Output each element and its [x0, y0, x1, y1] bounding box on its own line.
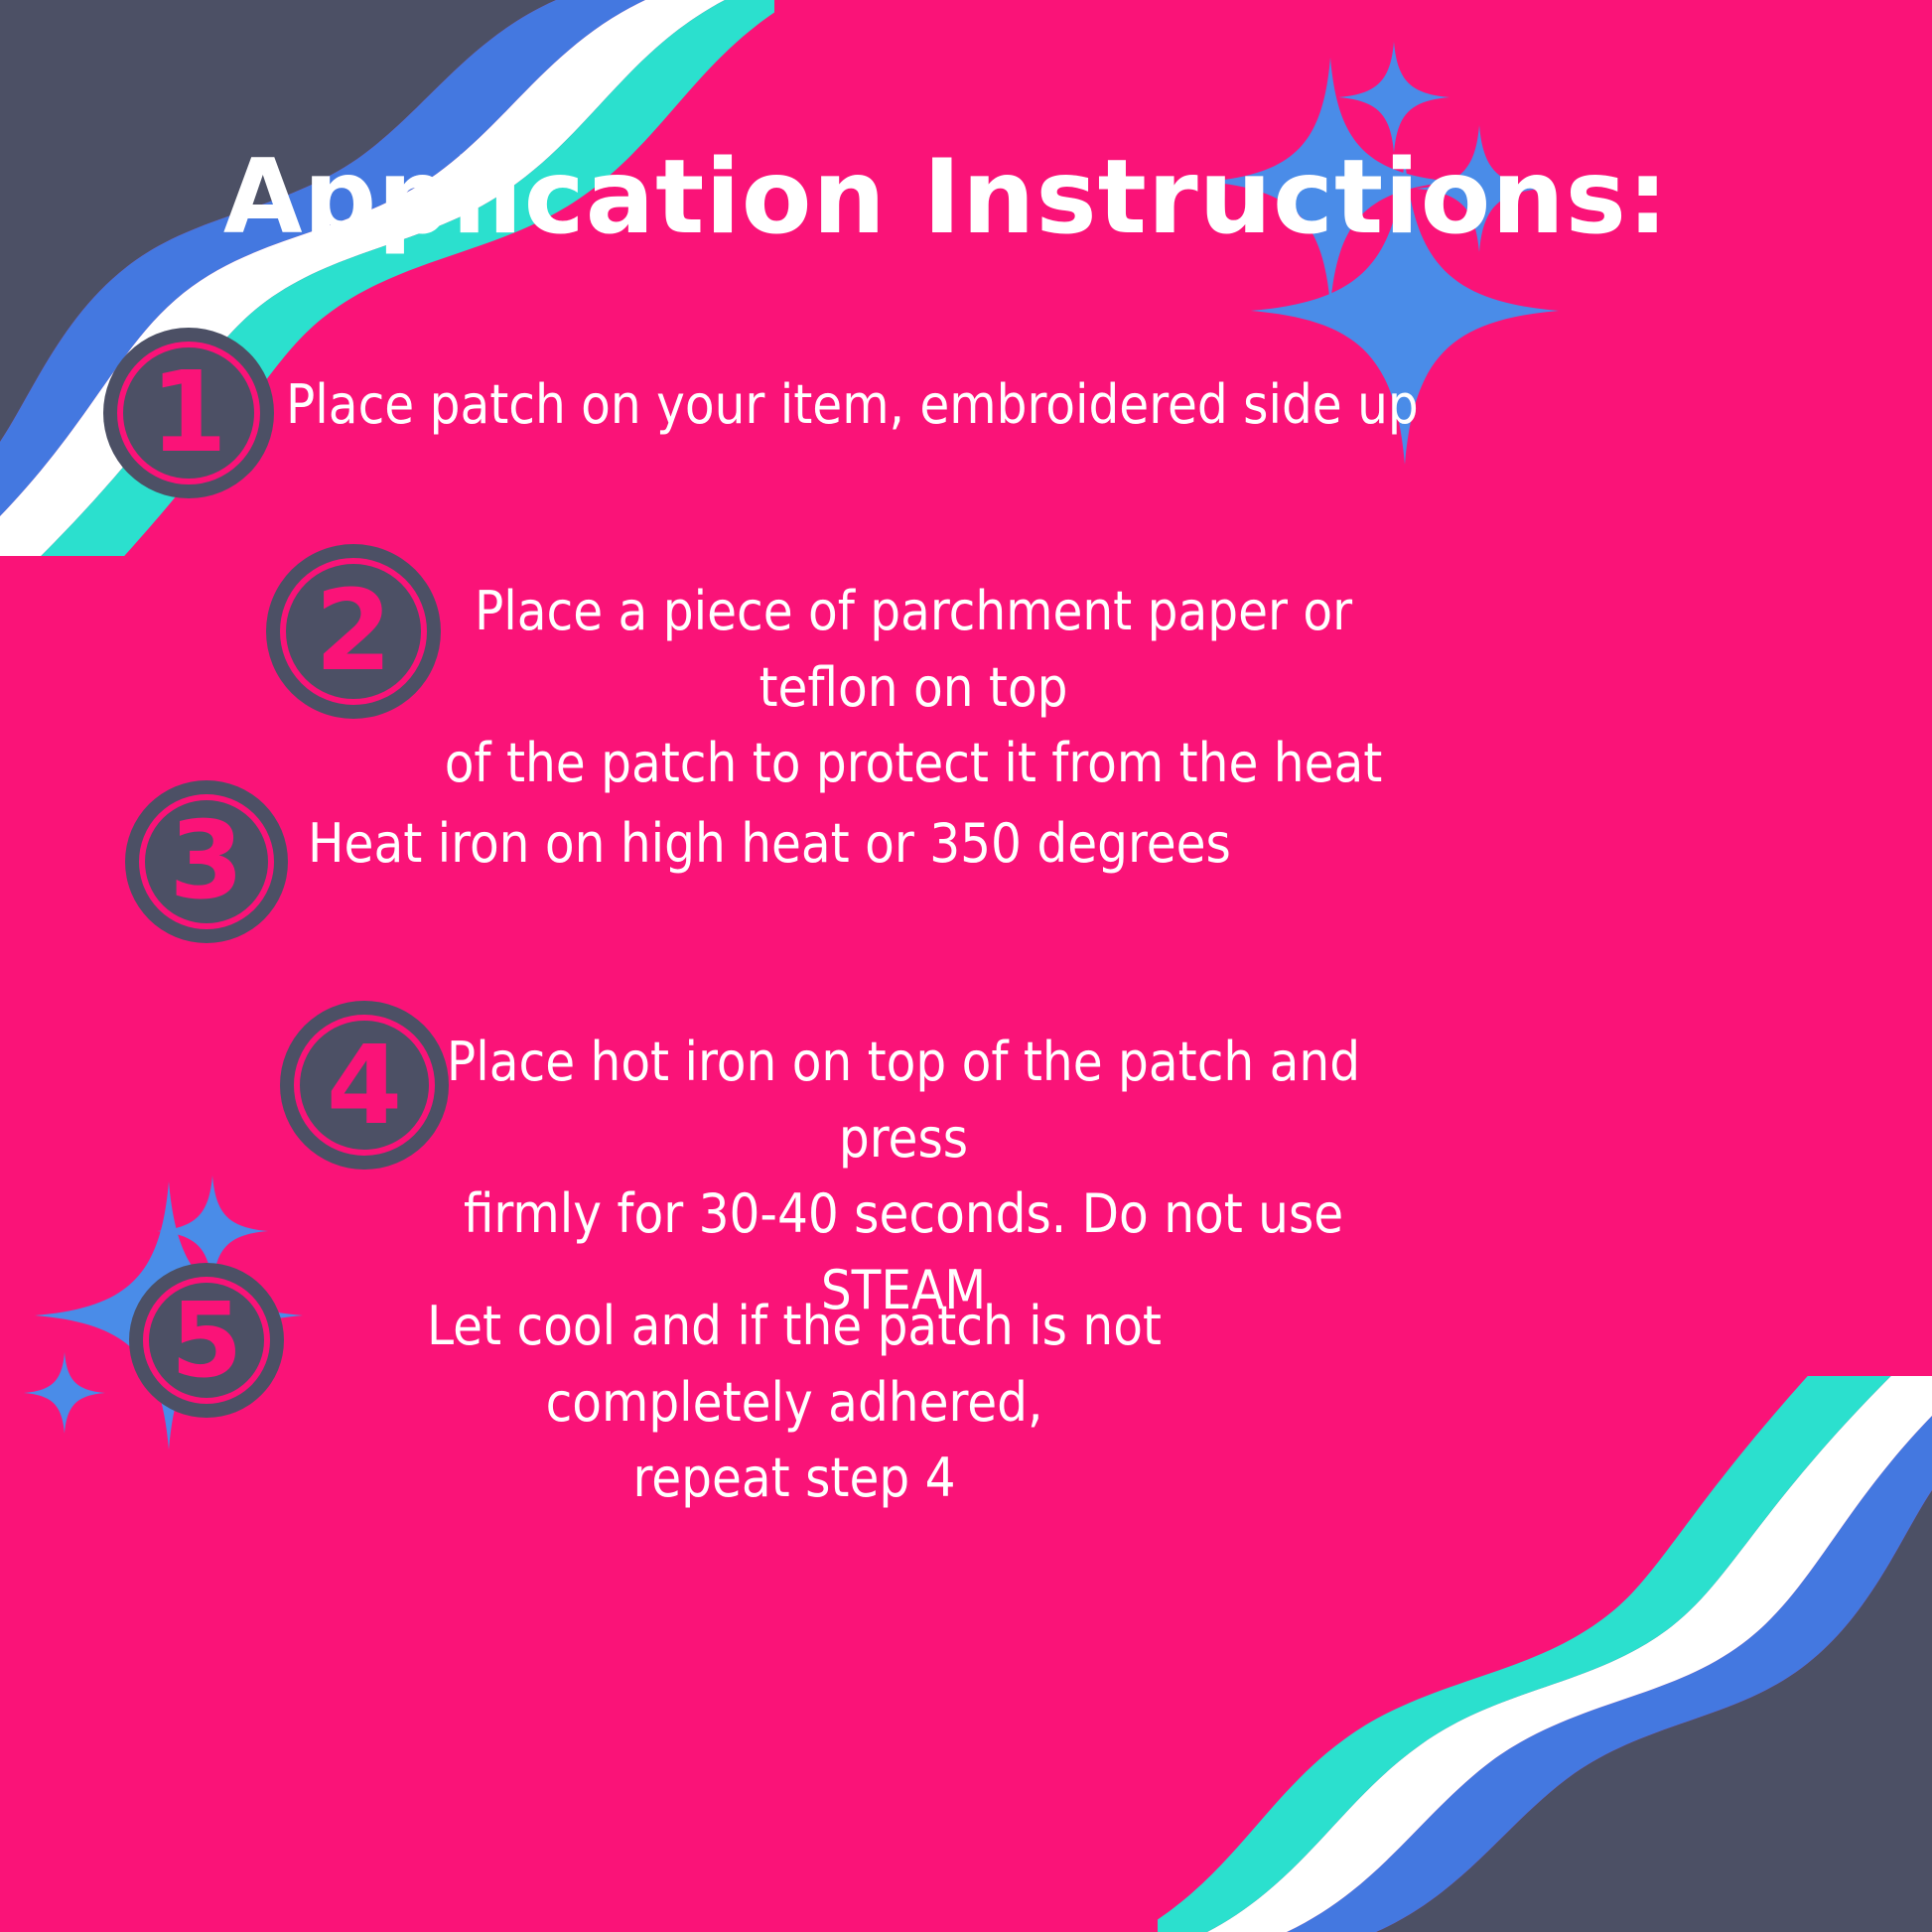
wave-white-shape: [0, 0, 725, 556]
step-text-3: Heat iron on high heat or 350 degrees: [308, 806, 1301, 883]
step-badge-3: 3: [125, 780, 288, 943]
wave-teal-shape: [0, 0, 774, 556]
sparkle-small-left: [24, 1352, 105, 1434]
wave-blue-shape: [1287, 1416, 1932, 1932]
four-point-star-icon: [24, 1352, 105, 1434]
step-number-5: 5: [171, 1289, 242, 1392]
step-badge-4: 4: [280, 1001, 449, 1170]
step-text-2: Place a piece of parchment paper or tefl…: [417, 574, 1410, 802]
step-number-1: 1: [150, 357, 227, 469]
wave-white-shape: [1207, 1376, 1932, 1932]
step-text-5: Let cool and if the patch is not complet…: [288, 1289, 1301, 1517]
four-point-star-icon: [1338, 42, 1449, 153]
step-badge-2: 2: [266, 544, 441, 719]
instructions-poster: Application Instructions: 1 Place patch …: [0, 0, 1932, 1932]
decorative-wave-top-left: [0, 0, 774, 556]
step-badge-1: 1: [103, 328, 274, 498]
step-number-4: 4: [327, 1031, 403, 1140]
step-text-4: Place hot iron on top of the patch and p…: [427, 1025, 1380, 1329]
sparkle-small-top-right: [1338, 42, 1449, 153]
step-badge-5: 5: [129, 1263, 284, 1418]
step-number-3: 3: [169, 808, 243, 915]
step-text-1: Place patch on your item, embroidered si…: [286, 367, 1477, 444]
page-title: Application Instructions:: [0, 147, 1932, 249]
wave-navy-shape: [1376, 1490, 1932, 1932]
step-number-2: 2: [315, 576, 392, 687]
